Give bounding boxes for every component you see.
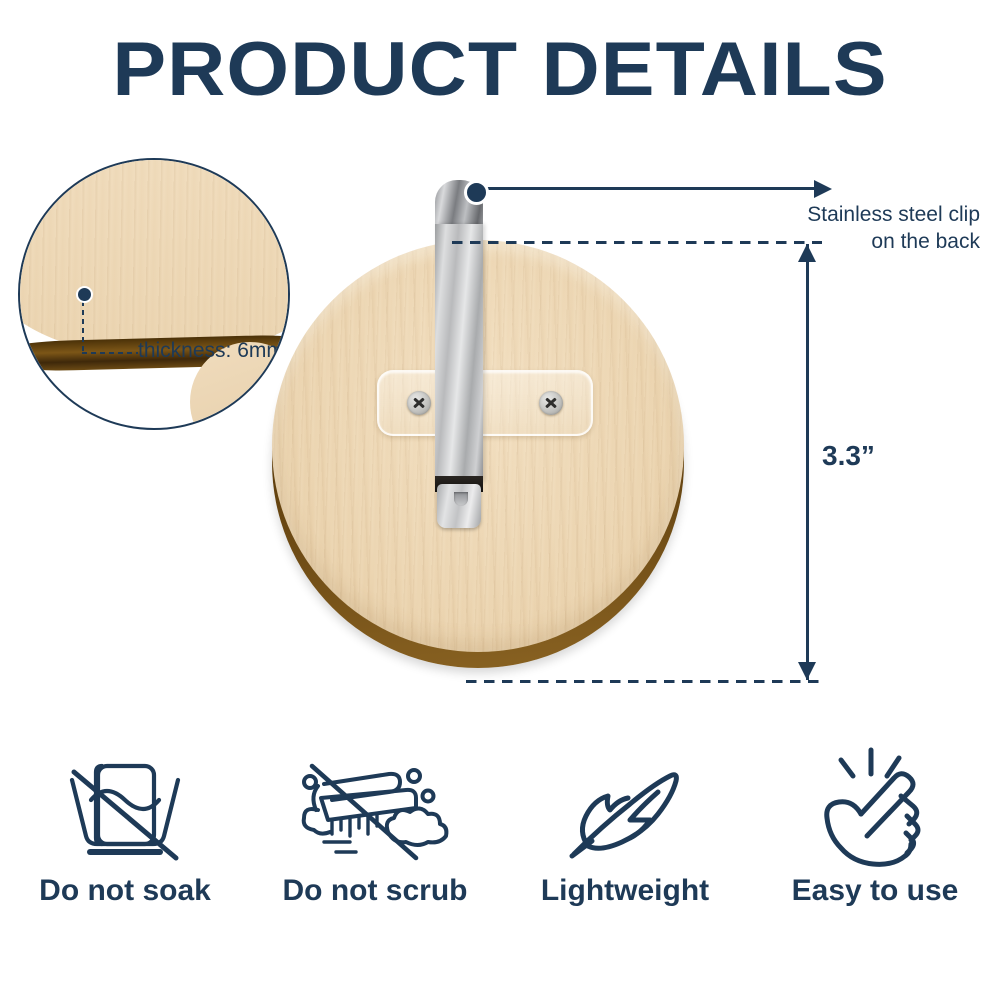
screw-right-icon [539,391,563,415]
feature-easy-to-use: Easy to use [750,748,1000,958]
dimension-arrow-top-icon [798,244,816,262]
clip-callout-line [478,187,820,190]
thickness-anchor-dot [76,286,93,303]
feature-label: Lightweight [541,874,709,908]
dimension-arrow-bottom-icon [798,662,816,680]
no-soak-icon [50,748,200,868]
feature-label: Do not soak [39,874,211,908]
product-details-infographic: PRODUCT DETAILS [0,0,1000,1000]
feature-lightweight: Lightweight [500,748,750,958]
feature-row: Do not soak [0,748,1000,958]
magnified-wood-face [18,158,290,358]
feature-label: Easy to use [792,874,959,908]
clip-notch [454,492,468,506]
dimension-label: 3.3” [822,440,875,472]
clip-tip [437,484,481,528]
no-scrub-icon [288,748,463,868]
feature-do-not-soak: Do not soak [0,748,250,958]
dimension-extension-top [452,241,822,244]
dimension-extension-bottom [466,680,822,683]
clip-callout-dot [464,180,489,205]
clip-callout-arrow-icon [814,180,832,198]
hero-illustration: thickness: 6mm Stainless steel clip on t… [0,140,1000,720]
thickness-label: thickness: 6mm [138,339,284,363]
clip-body [435,224,483,482]
feature-do-not-scrub: Do not scrub [250,748,500,958]
thickness-leader-horizontal [82,352,138,354]
feather-icon [558,748,693,868]
clip-callout-line-1: Stainless steel clip [640,202,980,229]
edge-thickness-magnifier: thickness: 6mm [18,158,290,430]
feature-label: Do not scrub [283,874,468,908]
dimension-line-vertical [806,244,809,680]
stainless-steel-clip [424,180,494,530]
page-title: PRODUCT DETAILS [0,26,1000,113]
tap-hand-icon [805,748,945,868]
